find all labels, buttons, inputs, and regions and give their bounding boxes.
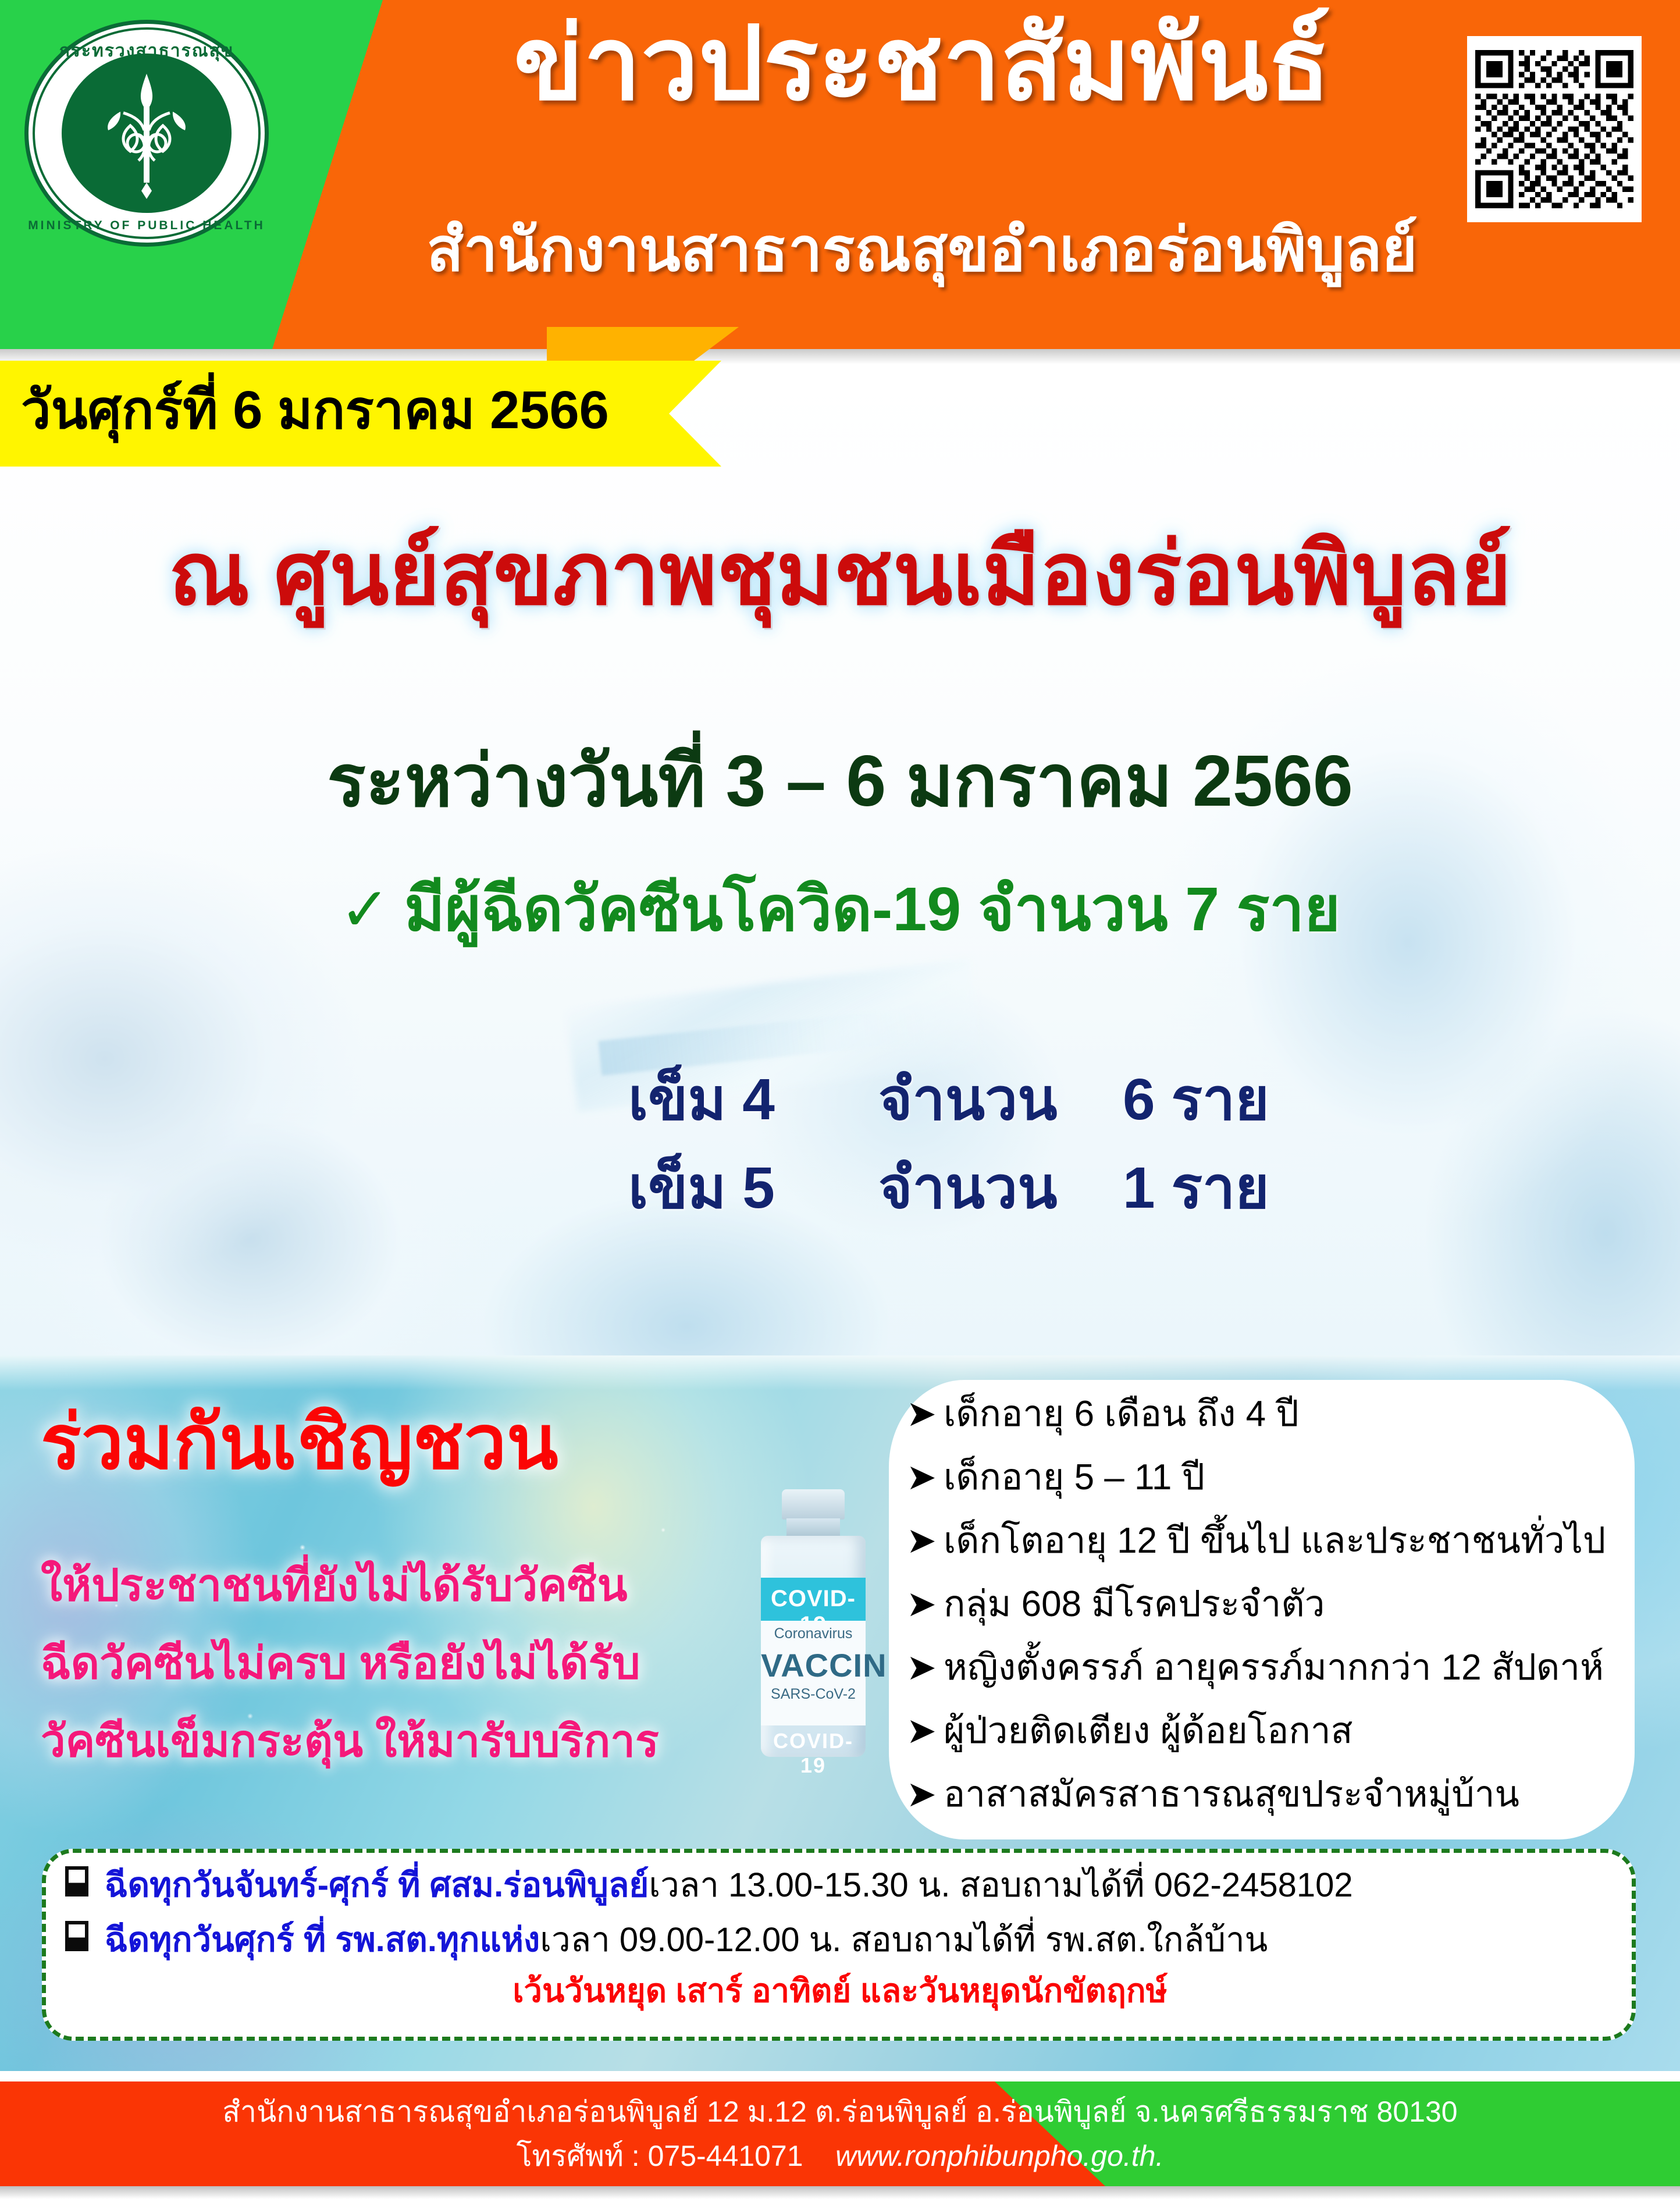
page-title: ข่าวประชาสัมพันธ์	[349, 13, 1495, 115]
service-row-1: ฉีดทุกวันจันทร์-ศุกร์ ที่ ศสม.ร่อนพิบูลย…	[65, 1869, 1353, 1905]
emblem-english-text: MINISTRY OF PUBLIC HEALTH	[24, 219, 269, 233]
announcement-date: วันศุกร์ที่ 6 มกราคม 2566	[21, 377, 661, 444]
list-item-label: เด็กโตอายุ 12 ปี ขึ้นไป และประชาชนทั่วไป	[944, 1523, 1606, 1559]
arrow-bullet-icon: ➤	[906, 1396, 944, 1432]
footer-phone: โทรศัพท์ : 075-441071	[517, 2140, 803, 2172]
service-row-1-highlight: ฉีดทุกวันจันทร์-ศุกร์ ที่ ศสม.ร่อนพิบูลย…	[105, 1869, 649, 1902]
dose-breakdown: เข็ม 4 จำนวน 6 ราย เข็ม 5 จำนวน 1 ราย	[628, 1070, 1501, 1247]
dose-count: 6 ราย	[1123, 1070, 1355, 1129]
holiday-note: เว้นวันหยุด เสาร์ อาทิตย์ และวันหยุดนักข…	[0, 1974, 1680, 2007]
footer-phone-and-url: โทรศัพท์ : 075-441071 www.ronphibunpho.g…	[517, 2141, 1164, 2170]
invitation-line: ให้ประชาชนที่ยังไม่ได้รับวัคซีน	[41, 1564, 855, 1608]
arrow-bullet-icon: ➤	[906, 1777, 944, 1813]
list-item-label: เด็กอายุ 5 – 11 ปี	[944, 1460, 1205, 1496]
list-item-label: ผู้ป่วยติดเตียง ผู้ด้อยโอกาส	[944, 1713, 1353, 1749]
check-icon: ✓	[340, 876, 390, 944]
list-item-label: เด็กอายุ 6 เดือน ถึง 4 ปี	[944, 1396, 1299, 1432]
location-heading: ณ ศูนย์สุขภาพชุมชนเมืองร่อนพิบูลย์	[0, 524, 1680, 624]
caduceus-icon	[88, 66, 205, 200]
list-item-label: อาสาสมัครสาธารณสุขประจำหมู่บ้าน	[944, 1777, 1519, 1813]
footer-website[interactable]: www.ronphibunpho.go.th.	[835, 2140, 1163, 2172]
arrow-bullet-icon: ➤	[906, 1713, 944, 1749]
list-item-label: กลุ่ม 608 มีโรคประจำตัว	[944, 1586, 1325, 1622]
arrow-bullet-icon: ➤	[906, 1650, 944, 1686]
arrow-bullet-icon: ➤	[906, 1523, 944, 1559]
dose-label: เข็ม 5	[628, 1159, 878, 1217]
footer-drop-shadow	[0, 2186, 1680, 2199]
header-banner: กระทรวงสาธารณสุข	[0, 0, 1680, 349]
total-vaccinated-text: มีผู้ฉีดวัคซีนโควิด-19 จำนวน 7 ราย	[404, 875, 1340, 944]
vial-neck	[786, 1518, 840, 1538]
list-item: ➤ หญิงตั้งครรภ์ อายุครรภ์มากกว่า 12 สัปด…	[906, 1650, 1680, 1686]
service-row-2-details: เวลา 09.00-12.00 น. สอบถามได้ที่ รพ.สต.ใ…	[540, 1923, 1268, 1957]
date-ribbon-group: วันศุกร์ที่ 6 มกราคม 2566	[0, 361, 739, 471]
invitation-line: วัคซีนเข็มกระตุ้น ให้มารับบริการ	[41, 1720, 855, 1764]
checkbox-icon	[65, 1866, 105, 1902]
invitation-text-block: ให้ประชาชนที่ยังไม่ได้รับวัคซีน ฉีดวัคซี…	[41, 1564, 855, 1798]
vial-cap	[782, 1489, 845, 1520]
list-item: ➤ เด็กโตอายุ 12 ปี ขึ้นไป และประชาชนทั่ว…	[906, 1523, 1680, 1559]
vial-label-line2: VACCINE	[761, 1646, 866, 1684]
dose-count: 1 ราย	[1123, 1159, 1355, 1217]
dose-label: เข็ม 4	[628, 1070, 878, 1129]
service-row-2-highlight: ฉีดทุกวันศุกร์ ที่ รพ.สต.ทุกแห่ง	[105, 1923, 540, 1957]
dose-amount-word: จำนวน	[878, 1159, 1123, 1217]
arrow-bullet-icon: ➤	[906, 1460, 944, 1496]
dose-row: เข็ม 5 จำนวน 1 ราย	[628, 1159, 1501, 1217]
vial-label-body: Coronavirus VACCINE SARS-CoV-2	[761, 1621, 866, 1725]
list-item-label: หญิงตั้งครรภ์ อายุครรภ์มากกว่า 12 สัปดาห…	[944, 1650, 1604, 1686]
date-range-text: ระหว่างวันที่ 3 – 6 มกราคม 2566	[0, 740, 1680, 823]
vaccine-vial-icon: COVID-19 Coronavirus VACCINE SARS-CoV-2 …	[750, 1489, 875, 1757]
service-row-1-details: เวลา 13.00-15.30 น. สอบถามได้ที่ 062-245…	[649, 1869, 1352, 1902]
footer-address: สำนักงานสาธารณสุขอำเภอร่อนพิบูลย์ 12 ม.1…	[222, 2097, 1457, 2126]
list-item: ➤ ผู้ป่วยติดเตียง ผู้ด้อยโอกาส	[906, 1713, 1680, 1749]
invitation-line: ฉีดวัคซีนไม่ครบ หรือยังไม่ได้รับ	[41, 1642, 855, 1686]
ministry-of-public-health-logo: กระทรวงสาธารณสุข	[24, 20, 269, 247]
total-vaccinated-line: ✓มีผู้ฉีดวัคซีนโควิด-19 จำนวน 7 ราย	[0, 873, 1680, 947]
list-item: ➤ อาสาสมัครสาธารณสุขประจำหมู่บ้าน	[906, 1777, 1680, 1813]
dose-row: เข็ม 4 จำนวน 6 ราย	[628, 1070, 1501, 1129]
vial-label-line1: Coronavirus	[761, 1625, 866, 1642]
arrow-bullet-icon: ➤	[906, 1586, 944, 1622]
vial-label-line3: SARS-CoV-2	[761, 1686, 866, 1703]
header-subtitle: สำนักงานสาธารณสุขอำเภอร่อนพิบูลย์	[349, 220, 1495, 280]
vial-label-header: COVID-19	[761, 1578, 866, 1621]
list-item: ➤ เด็กอายุ 5 – 11 ปี	[906, 1460, 1680, 1496]
invitation-title: ร่วมกันเชิญชวน	[41, 1401, 878, 1484]
list-item: ➤ กลุ่ม 608 มีโรคประจำตัว	[906, 1586, 1680, 1622]
dose-amount-word: จำนวน	[878, 1070, 1123, 1129]
service-row-2: ฉีดทุกวันศุกร์ ที่ รพ.สต.ทุกแห่ง เวลา 09…	[65, 1923, 1268, 1959]
qr-code-icon[interactable]	[1467, 36, 1642, 222]
vial-bottom-text: COVID-19	[761, 1729, 866, 1778]
footer-banner: สำนักงานสาธารณสุขอำเภอร่อนพิบูลย์ 12 ม.1…	[0, 2081, 1680, 2186]
poster-root: กระทรวงสาธารณสุข	[0, 0, 1680, 2199]
list-item: ➤ เด็กอายุ 6 เดือน ถึง 4 ปี	[906, 1396, 1680, 1432]
checkbox-icon	[65, 1921, 105, 1957]
footer-contact-block: สำนักงานสาธารณสุขอำเภอร่อนพิบูลย์ 12 ม.1…	[0, 2081, 1680, 2186]
target-groups-list: ➤ เด็กอายุ 6 เดือน ถึง 4 ปี ➤ เด็กอายุ 5…	[906, 1396, 1680, 1840]
